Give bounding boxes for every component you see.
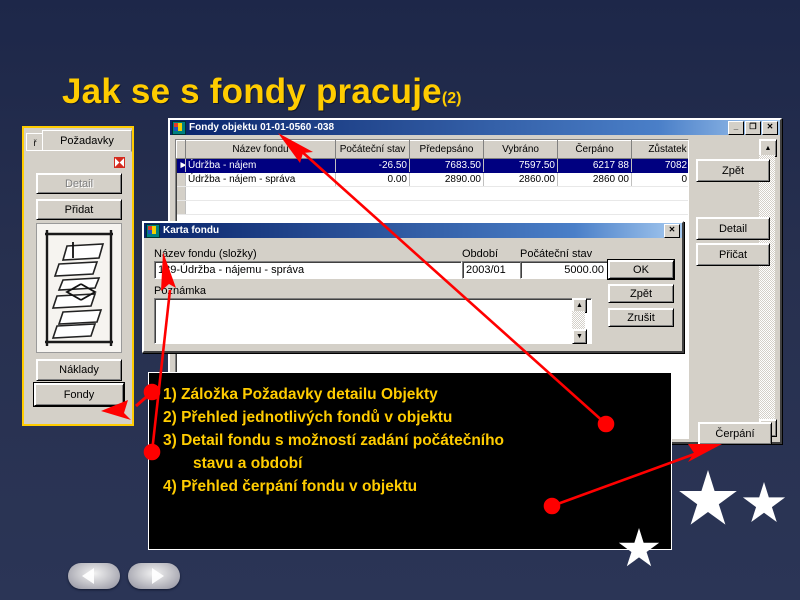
- left-detail-panel: ř Požadavky Detail Přidat: [22, 126, 134, 426]
- cell-cerpano: 6217 88: [558, 159, 632, 173]
- previous-slide-button[interactable]: [68, 563, 120, 589]
- table-row[interactable]: Údržba - nájem - správa 0.00 2890.00 286…: [177, 173, 690, 187]
- table-row[interactable]: [177, 187, 690, 201]
- cell-zustatek: 7082.91: [632, 159, 690, 173]
- title-text: Jak se s fondy pracuje: [62, 72, 442, 111]
- grid-vertical-scrollbar[interactable]: ▲ ▼: [759, 139, 775, 437]
- window-title: Fondy objektu 01-01-0560 -038: [189, 122, 334, 133]
- nazev-fondu-label: Název fondu (složky): [154, 248, 257, 260]
- zpet-button[interactable]: Zpět: [608, 284, 674, 303]
- annotation-item-4: 4) Přehled čerpání fondu v objektu: [163, 475, 665, 498]
- naklady-button[interactable]: Náklady: [36, 359, 122, 381]
- col-vybrano[interactable]: Vybráno: [484, 141, 558, 159]
- cell-nazev-fondu: Údržba - nájem: [186, 159, 336, 173]
- cell-zustatek: 0.00: [632, 173, 690, 187]
- dialog-karta-fondu: Karta fondu ✕ Název fondu (složky) 139-Ú…: [142, 221, 684, 353]
- cell-nazev-fondu: Údržba - nájem - správa: [186, 173, 336, 187]
- next-slide-button[interactable]: [128, 563, 180, 589]
- left-panel-body: Detail Přidat: [26, 150, 130, 422]
- red-flag-icon: [114, 155, 125, 166]
- nazev-fondu-input[interactable]: 139-Údržba - nájemu - správa: [154, 261, 462, 279]
- row-marker: ►: [177, 159, 186, 173]
- detail-button[interactable]: Detail: [36, 173, 122, 194]
- annotation-item-3: 3) Detail fondu s možností zadání počáte…: [163, 429, 665, 452]
- annotation-item-2: 2) Přehled jednotlivých fondů v objektu: [163, 406, 665, 429]
- page-title: Jak se s fondy pracuje(2): [62, 70, 702, 114]
- fondy-table: Název fondu Počáteční stav Předepsáno Vy…: [176, 140, 689, 215]
- cell-vybrano: 7597.50: [484, 159, 558, 173]
- ok-button[interactable]: OK: [608, 260, 674, 279]
- pridat-button[interactable]: Přidat: [36, 199, 122, 220]
- right-arrow-icon: [152, 568, 164, 584]
- fondy-button[interactable]: Fondy: [34, 383, 124, 406]
- dialog-title: Karta fondu: [163, 225, 219, 236]
- table-row[interactable]: ► Údržba - nájem -26.50 7683.50 7597.50 …: [177, 159, 690, 173]
- table-row[interactable]: [177, 201, 690, 215]
- col-cerpano[interactable]: Čerpáno: [558, 141, 632, 159]
- title-suffix: (2): [442, 90, 462, 107]
- minimize-button[interactable]: _: [728, 121, 744, 135]
- dialog-client-area: Název fondu (složky) 139-Údržba - nájemu…: [146, 242, 680, 349]
- annotation-item-3-cont: stavu a období: [163, 452, 665, 475]
- table-header-row: Název fondu Počáteční stav Předepsáno Vy…: [177, 141, 690, 159]
- cell-pocatecni-stav: -26.50: [336, 159, 410, 173]
- app-icon: [172, 121, 186, 135]
- close-button[interactable]: ✕: [664, 224, 680, 238]
- col-zustatek[interactable]: Zůstatek: [632, 141, 690, 159]
- col-nazev-fondu[interactable]: Název fondu: [186, 141, 336, 159]
- cell-cerpano: 2860 00: [558, 173, 632, 187]
- scroll-track[interactable]: [572, 311, 585, 331]
- poznamka-textarea[interactable]: [154, 298, 592, 344]
- row-marker-header: [177, 141, 186, 159]
- close-button[interactable]: ✕: [762, 121, 778, 135]
- cerpani-button[interactable]: Čerpání: [698, 422, 772, 445]
- titlebar[interactable]: Fondy objektu 01-01-0560 -038 _ ❐ ✕: [170, 120, 780, 135]
- maximize-button[interactable]: ❐: [745, 121, 761, 135]
- row-marker: [177, 173, 186, 187]
- zpet-button[interactable]: Zpět: [696, 159, 770, 182]
- detail-button[interactable]: Detail: [696, 217, 770, 240]
- annotation-panel: 1) Záložka Požadavky detailu Objekty 2) …: [148, 372, 672, 550]
- col-predepsano[interactable]: Předepsáno: [410, 141, 484, 159]
- cell-predepsano: 2890.00: [410, 173, 484, 187]
- poznamka-scrollbar[interactable]: ▲ ▼: [572, 298, 585, 344]
- pocatecni-stav-label: Počáteční stav: [520, 248, 592, 260]
- pricat-button[interactable]: Přičat: [696, 243, 770, 266]
- annotation-item-1: 1) Záložka Požadavky detailu Objekty: [163, 383, 665, 406]
- obdobi-label: Období: [462, 248, 498, 260]
- scroll-down-button[interactable]: ▼: [572, 329, 587, 344]
- poznamka-label: Poznámka: [154, 285, 206, 297]
- left-arrow-icon: [82, 568, 94, 584]
- tab-pozadavky[interactable]: Požadavky: [42, 130, 132, 152]
- titlebar[interactable]: Karta fondu ✕: [144, 223, 682, 238]
- tabstrip: ř Požadavky: [26, 130, 130, 152]
- obdobi-input[interactable]: 2003/01: [462, 261, 522, 279]
- pocatecni-stav-input[interactable]: 5000.00: [520, 261, 608, 279]
- cell-vybrano: 2860.00: [484, 173, 558, 187]
- zrusit-button[interactable]: Zrušit: [608, 308, 674, 327]
- document-sketch-thumbnail: [36, 223, 122, 353]
- annotation-list: 1) Záložka Požadavky detailu Objekty 2) …: [163, 383, 665, 498]
- cell-predepsano: 7683.50: [410, 159, 484, 173]
- app-icon: [146, 224, 160, 238]
- col-pocatecni-stav[interactable]: Počáteční stav: [336, 141, 410, 159]
- cell-pocatecni-stav: 0.00: [336, 173, 410, 187]
- scroll-track[interactable]: [759, 155, 775, 421]
